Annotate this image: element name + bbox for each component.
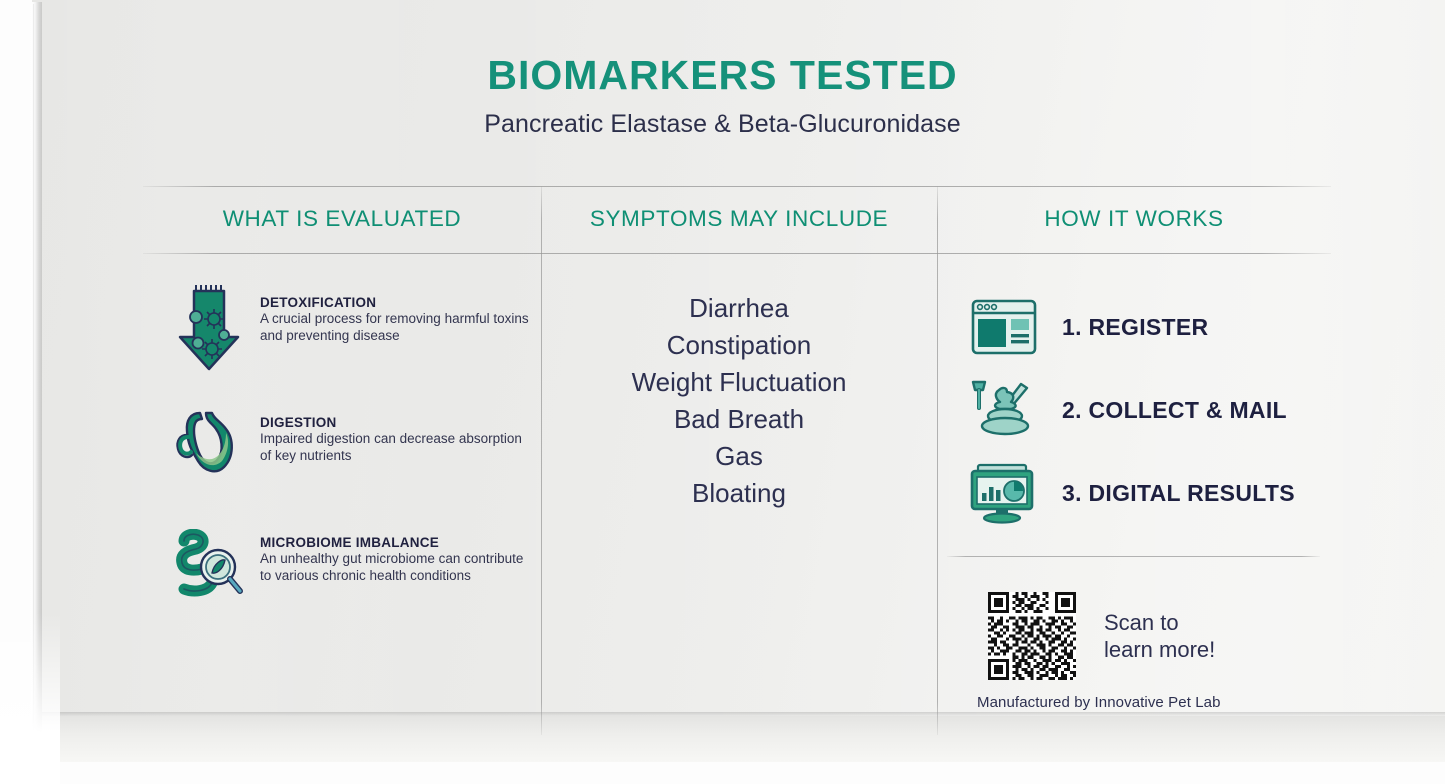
divider-vertical-right (937, 186, 938, 735)
list-item-text: DIGESTION Impaired digestion can decreas… (248, 403, 530, 464)
product-box-panel: BIOMARKERS TESTED Pancreatic Elastase & … (0, 0, 1445, 784)
list-item: Diarrhea (541, 290, 937, 327)
left-light-glow (0, 612, 60, 784)
intestine-magnifier-icon (170, 523, 248, 615)
list-item-text: DETOXIFICATION A crucial process for rem… (248, 283, 530, 344)
list-item: Constipation (541, 327, 937, 364)
divider-above-qr (947, 556, 1320, 557)
step-label: 1. REGISTER (1040, 314, 1208, 341)
qr-block[interactable]: Scan to learn more! (988, 592, 1215, 680)
how-it-works-steps: 1. REGISTER (968, 286, 1348, 535)
manufacturer-text: Manufactured by Innovative Pet Lab (977, 694, 1357, 711)
qr-caption-line2: learn more! (1104, 636, 1215, 663)
list-item-desc: An unhealthy gut microbiome can contribu… (260, 551, 530, 584)
list-item: DIGESTION Impaired digestion can decreas… (170, 403, 530, 501)
step-label: 3. DIGITAL RESULTS (1040, 480, 1295, 507)
column-header-how-it-works: HOW IT WORKS (937, 206, 1331, 232)
page-subtitle: Pancreatic Elastase & Beta-Glucuronidase (0, 110, 1445, 139)
list-item: Weight Fluctuation (541, 364, 937, 401)
step-label: 2. COLLECT & MAIL (1040, 397, 1287, 424)
divider-top (143, 186, 1331, 187)
qr-caption-line1: Scan to (1104, 609, 1215, 636)
divider-under-headers (143, 253, 1331, 254)
list-item-title: MICROBIOME IMBALANCE (260, 535, 530, 550)
list-item-text: MICROBIOME IMBALANCE An unhealthy gut mi… (248, 523, 530, 584)
list-item: Gas (541, 438, 937, 475)
symptoms-list: Diarrhea Constipation Weight Fluctuation… (541, 290, 937, 512)
page-title: BIOMARKERS TESTED (0, 52, 1445, 99)
list-item-desc: Impaired digestion can decrease absorpti… (260, 431, 530, 464)
qr-caption: Scan to learn more! (1076, 609, 1215, 663)
list-item: Bloating (541, 475, 937, 512)
list-item: 2. COLLECT & MAIL (968, 369, 1348, 451)
list-item-title: DIGESTION (260, 415, 530, 430)
list-item-desc: A crucial process for removing harmful t… (260, 311, 530, 344)
column-header-evaluated: WHAT IS EVALUATED (143, 206, 541, 232)
list-item: MICROBIOME IMBALANCE An unhealthy gut mi… (170, 523, 530, 621)
monitor-results-icon (968, 457, 1040, 529)
list-item: 1. REGISTER (968, 286, 1348, 368)
sample-collect-icon (968, 374, 1040, 446)
list-item: DETOXIFICATION A crucial process for rem… (170, 283, 530, 381)
browser-register-icon (968, 291, 1040, 363)
stomach-icon (170, 403, 248, 495)
evaluated-list: DETOXIFICATION A crucial process for rem… (170, 283, 530, 643)
list-item-title: DETOXIFICATION (260, 295, 530, 310)
detox-arrow-icon (170, 283, 248, 375)
box-bottom-edge (38, 716, 1445, 762)
list-item: Bad Breath (541, 401, 937, 438)
list-item: 3. DIGITAL RESULTS (968, 452, 1348, 534)
qr-code-icon[interactable] (988, 592, 1076, 680)
column-header-symptoms: SYMPTOMS MAY INCLUDE (541, 206, 937, 232)
